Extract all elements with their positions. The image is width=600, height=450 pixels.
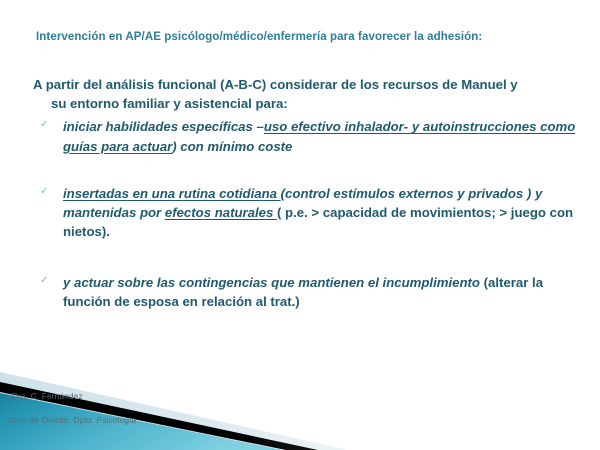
bullet-1-segment-tail: ) con mínimo coste [172, 139, 292, 154]
bullet-item-1: ✓ iniciar habilidades específicas –uso e… [33, 117, 578, 155]
footer-affiliation: Univ. de Oviedo. Dpto. Psicología [8, 415, 136, 427]
slide-canvas: Intervención en AP/AE psicólogo/médico/e… [0, 0, 600, 450]
bullet-2-segment-underlined-2: efectos naturales [165, 205, 277, 220]
slide-title: Intervención en AP/AE psicólogo/médico/e… [36, 30, 576, 44]
slide-body: A partir del análisis funcional (A-B-C) … [33, 76, 578, 311]
bullet-item-2: ✓ insertadas en una rutina cotidiana (co… [33, 184, 578, 241]
check-icon: ✓ [40, 274, 48, 289]
lead-line-2: su entorno familiar y asistencial para: [33, 95, 578, 114]
footer-author: Dra. C. Fernández [8, 391, 136, 403]
lead-line-1: A partir del análisis funcional (A-B-C) … [33, 77, 518, 92]
footer-attribution: Dra. C. Fernández Univ. de Oviedo. Dpto.… [8, 380, 136, 438]
check-icon: ✓ [40, 185, 48, 200]
bullet-1-segment-plain: iniciar habilidades específicas – [63, 119, 264, 134]
bullet-2-segment-underlined-1: insertadas en una rutina cotidiana [63, 186, 281, 201]
bullet-3-segment-italic: y actuar sobre las contingencias que man… [63, 275, 484, 290]
bullet-item-3: ✓ y actuar sobre las contingencias que m… [33, 273, 578, 311]
check-icon: ✓ [40, 118, 48, 133]
lead-paragraph: A partir del análisis funcional (A-B-C) … [33, 76, 578, 113]
